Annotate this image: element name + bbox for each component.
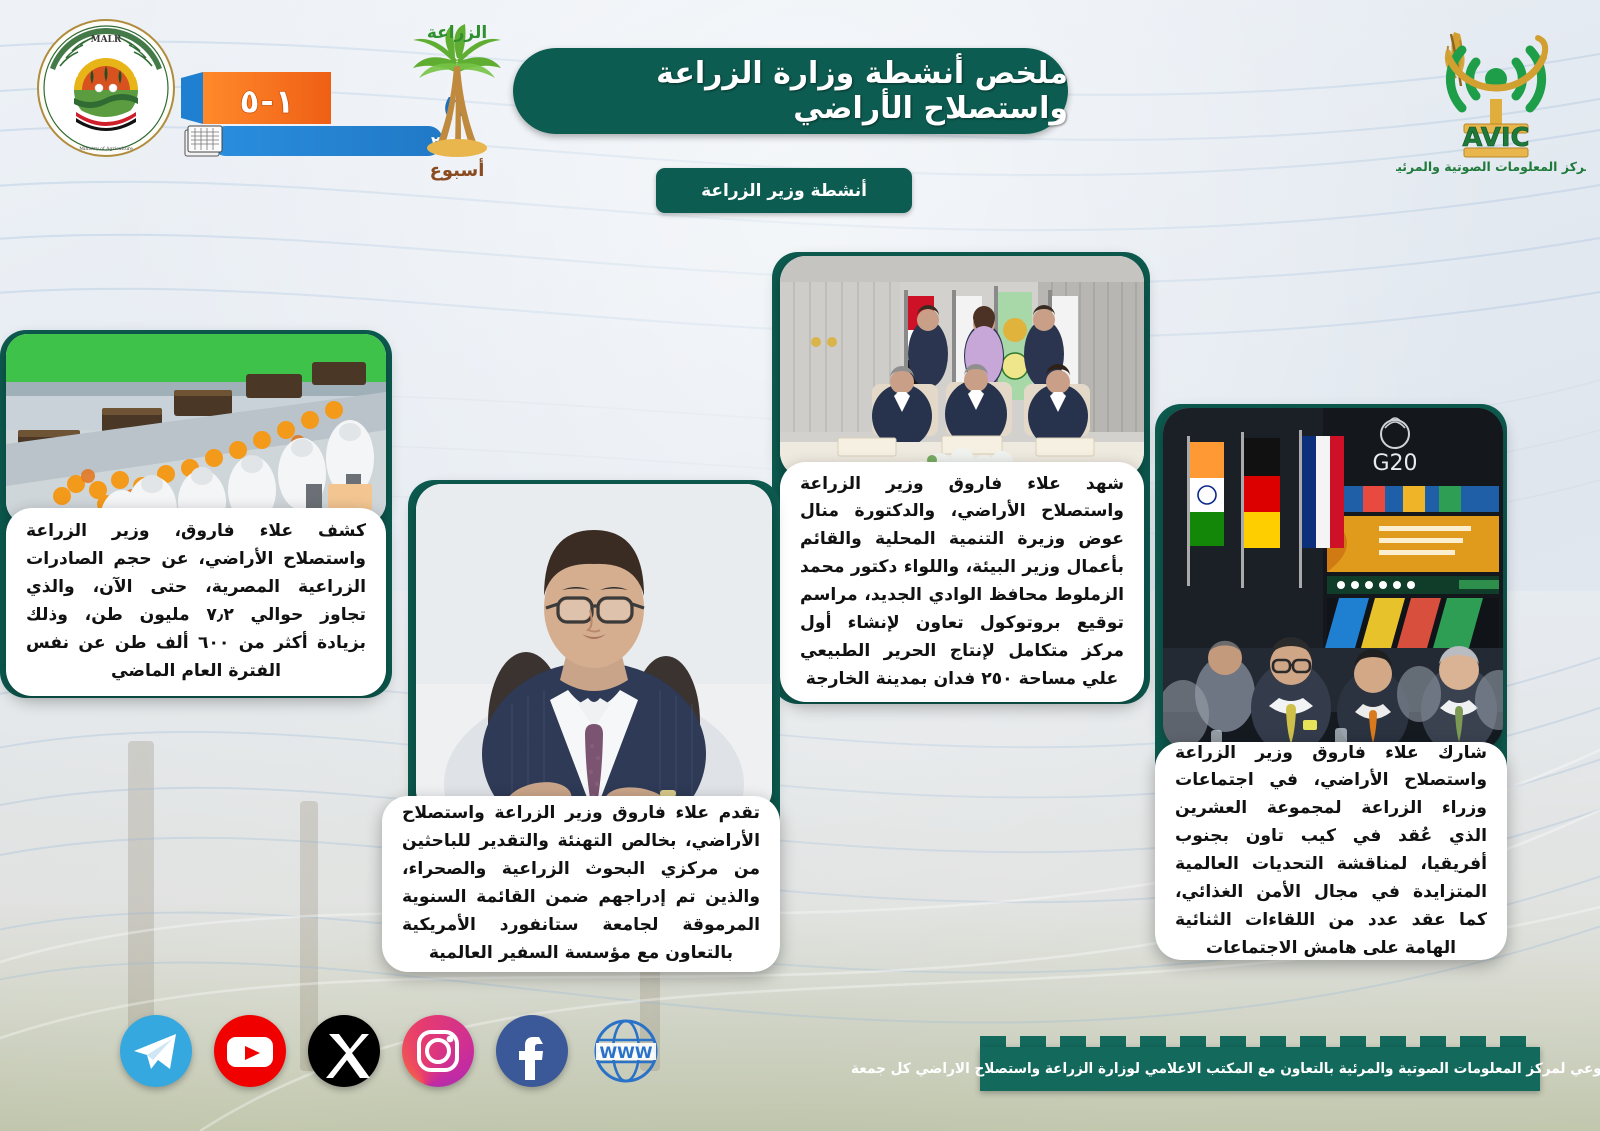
card-stanford-text: تقدم علاء فاروق وزير الزراعة واستصلاح ال… [382,800,780,967]
card-g20-text: شارك علاء فاروق وزير الزراعة واستصلاح ال… [1155,740,1507,963]
palm-bottom-text: أسبوع [430,158,485,181]
calendar-icon [185,126,222,156]
footer-notch-strip [980,1036,1540,1047]
photo-signing-ceremony [780,256,1144,478]
x-twitter-icon[interactable] [308,1015,380,1087]
avic-logo: AVIC مركز المعلومات الصوتية والمرئية [1396,4,1586,176]
svg-text:WWW: WWW [600,1043,653,1062]
website-icon[interactable]: WWW [590,1015,662,1087]
infographic-page: MALR Ministry of Agriculture ١-٥ العدد (… [0,0,1600,1131]
card-g20: شارك علاء فاروق وزير الزراعة واستصلاح ال… [1155,742,1507,960]
card-silk-protocol: شهد علاء فاروق وزير الزراعة واستصلاح الأ… [780,462,1144,702]
card-exports: كشف علاء فاروق، وزير الزراعة واستصلاح ال… [6,508,386,696]
telegram-icon[interactable] [120,1015,192,1087]
card-stanford: تقدم علاء فاروق وزير الزراعة واستصلاح ال… [382,796,780,972]
svg-text:Ministry of Agriculture: Ministry of Agriculture [79,146,133,152]
footer-banner-text: اصدار اسبوعي لمركز المعلومات الصوتية وال… [851,1061,1600,1077]
avic-acronym: AVIC [1462,123,1529,153]
g20-screen-label: G20 [1372,451,1417,476]
malr-logo: MALR Ministry of Agriculture [36,18,176,158]
instagram-icon[interactable] [402,1015,474,1087]
page-title-text: ملخص أنشطة وزارة الزراعة واستصلاح الأراض… [513,56,1068,126]
section-subtitle: أنشطة وزير الزراعة [656,168,912,213]
svg-text:MALR: MALR [91,35,122,45]
card-exports-text: كشف علاء فاروق، وزير الزراعة واستصلاح ال… [6,518,386,685]
page-title: ملخص أنشطة وزارة الزراعة واستصلاح الأراض… [513,48,1068,134]
youtube-icon[interactable] [214,1015,286,1087]
facebook-icon[interactable] [496,1015,568,1087]
card-silk-protocol-text: شهد علاء فاروق وزير الزراعة واستصلاح الأ… [780,471,1144,694]
photo-g20-meeting: G20 [1163,408,1503,750]
photo-packing-facility [6,334,386,524]
social-icon-bar: WWW [120,1015,662,1087]
section-subtitle-text: أنشطة وزير الزراعة [701,181,867,201]
issue-page-range: ١-٥ [239,82,295,122]
avic-caption: مركز المعلومات الصوتية والمرئية [1396,159,1586,174]
photo-minister-portrait [416,484,772,816]
footer-banner: اصدار اسبوعي لمركز المعلومات الصوتية وال… [980,1047,1540,1091]
palm-tree-emblem: الزراعة أسبوع [390,18,525,183]
palm-top-text: الزراعة [427,23,487,43]
